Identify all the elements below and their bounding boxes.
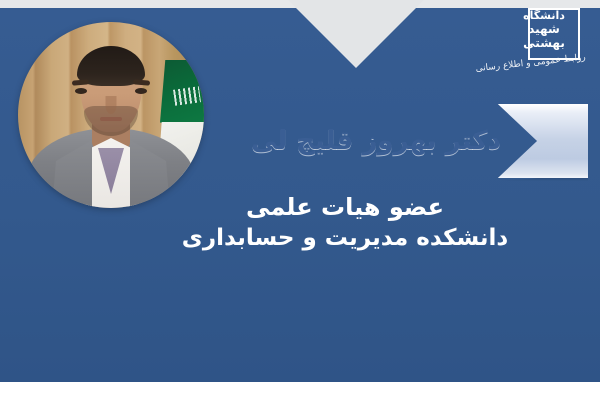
logo-text-line-2: شهید	[502, 23, 586, 35]
portrait-photo	[18, 22, 204, 208]
logo-text-line-3: بهشتی	[502, 37, 586, 49]
logo-calligraphy-text: روابط عمومی و اطلاع رسانی	[502, 54, 587, 73]
university-logo: دانشگاه شهید بهشتی روابط عمومی و اطلاع ر…	[502, 6, 586, 88]
banner-canvas: دکتر بهروز قلیچ لی عضو هیات علمی دانشکده…	[0, 0, 600, 400]
person-eye-left	[75, 88, 87, 94]
person-name: دکتر بهروز قلیچ لی	[196, 104, 556, 178]
person-mouth	[100, 117, 122, 121]
person-nose	[106, 96, 117, 114]
avatar	[18, 22, 204, 208]
logo-text-line-1: دانشگاه	[502, 10, 586, 21]
person-eye-right	[135, 88, 147, 94]
person-department: دانشکده مدیریت و حسابداری	[180, 224, 510, 254]
person-role: عضو هیات علمی	[180, 192, 510, 222]
subtitle-block: عضو هیات علمی دانشکده مدیریت و حسابداری	[180, 192, 510, 254]
